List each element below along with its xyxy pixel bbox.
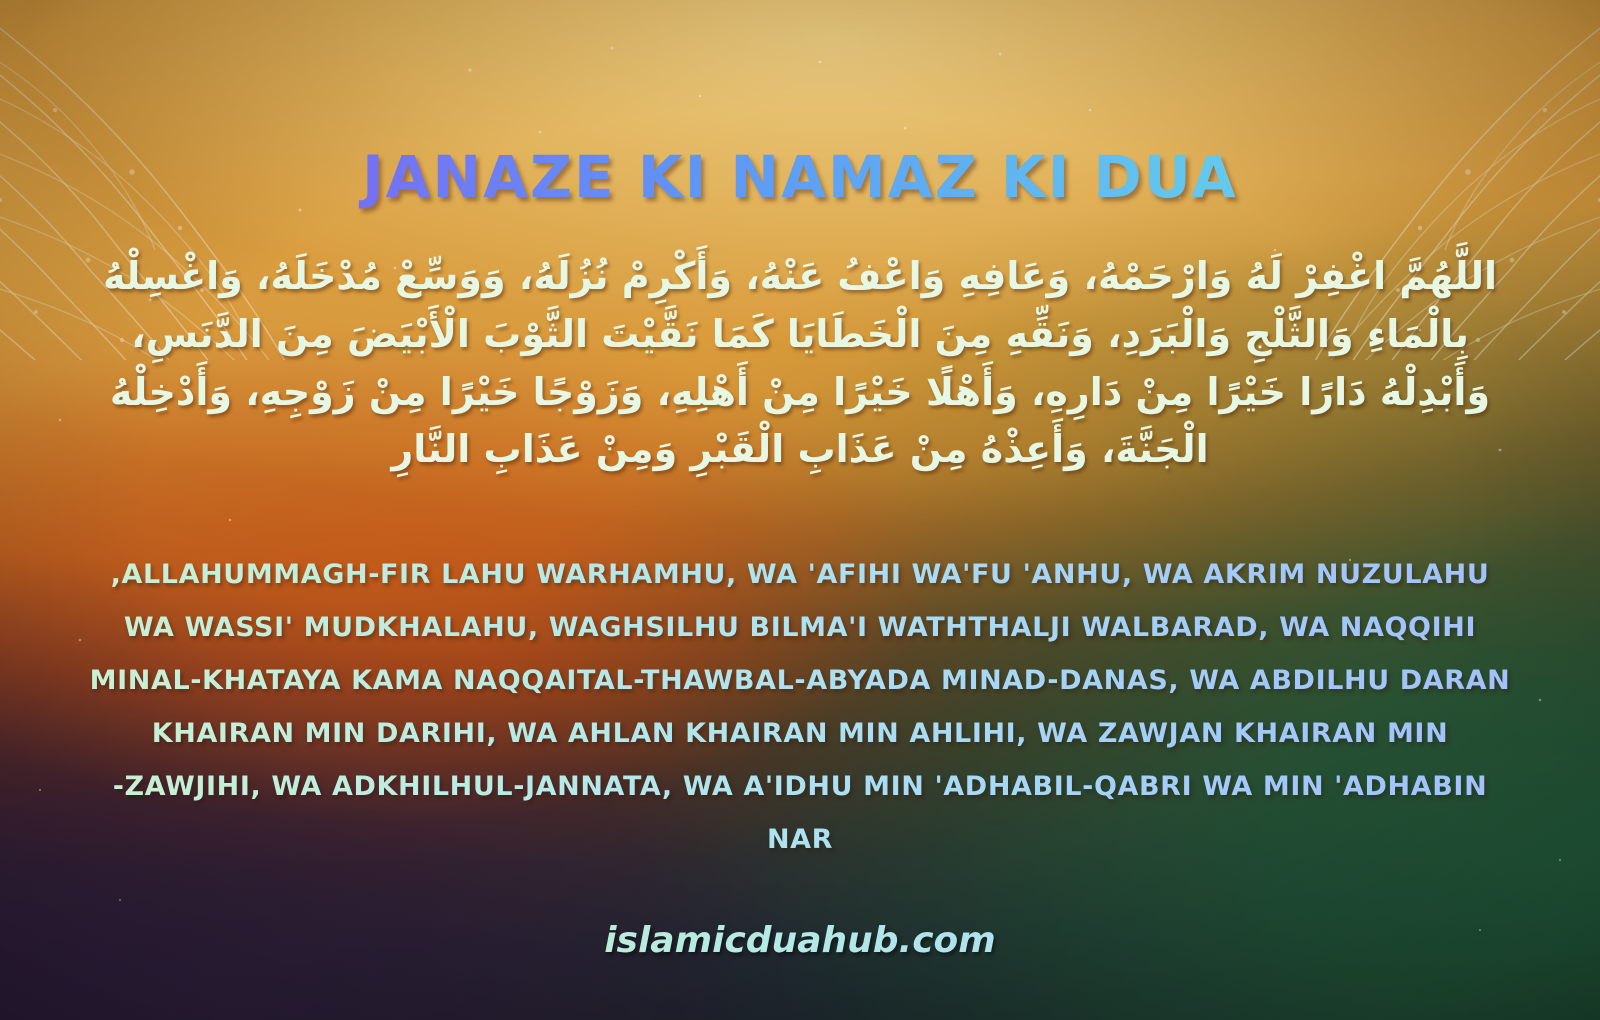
transliteration-line: wa wassi' mudkhalahu, waghsilhu bilma'i …: [70, 601, 1530, 654]
transliteration-text: ,Allahummagh-fir lahu warhamhu, wa 'afih…: [70, 548, 1530, 866]
dua-poster: Janaze Ki Namaz Ki Dua اللَّهُمَّ اغْفِر…: [0, 0, 1600, 1020]
transliteration-line: khairan min darihi, wa ahlan khairan min…: [70, 707, 1530, 760]
arabic-dua-text: اللَّهُمَّ اغْفِرْ لَهُ وَارْحَمْهُ، وَع…: [88, 248, 1512, 479]
arabic-line: اللَّهُمَّ اغْفِرْ لَهُ وَارْحَمْهُ، وَع…: [88, 248, 1512, 479]
page-title: Janaze Ki Namaz Ki Dua: [0, 143, 1600, 211]
transliteration-line: nar: [70, 813, 1530, 866]
poster-content: Janaze Ki Namaz Ki Dua اللَّهُمَّ اغْفِر…: [0, 0, 1600, 1020]
transliteration-line: ,Allahummagh-fir lahu warhamhu, wa 'afih…: [70, 548, 1530, 601]
transliteration-line: -zawjihi, wa adkhilhul-jannata, wa a'idh…: [70, 760, 1530, 813]
site-watermark: islamicduahub.com: [0, 920, 1600, 961]
transliteration-line: minal-khataya kama naqqaital-thawbal-aby…: [70, 654, 1530, 707]
